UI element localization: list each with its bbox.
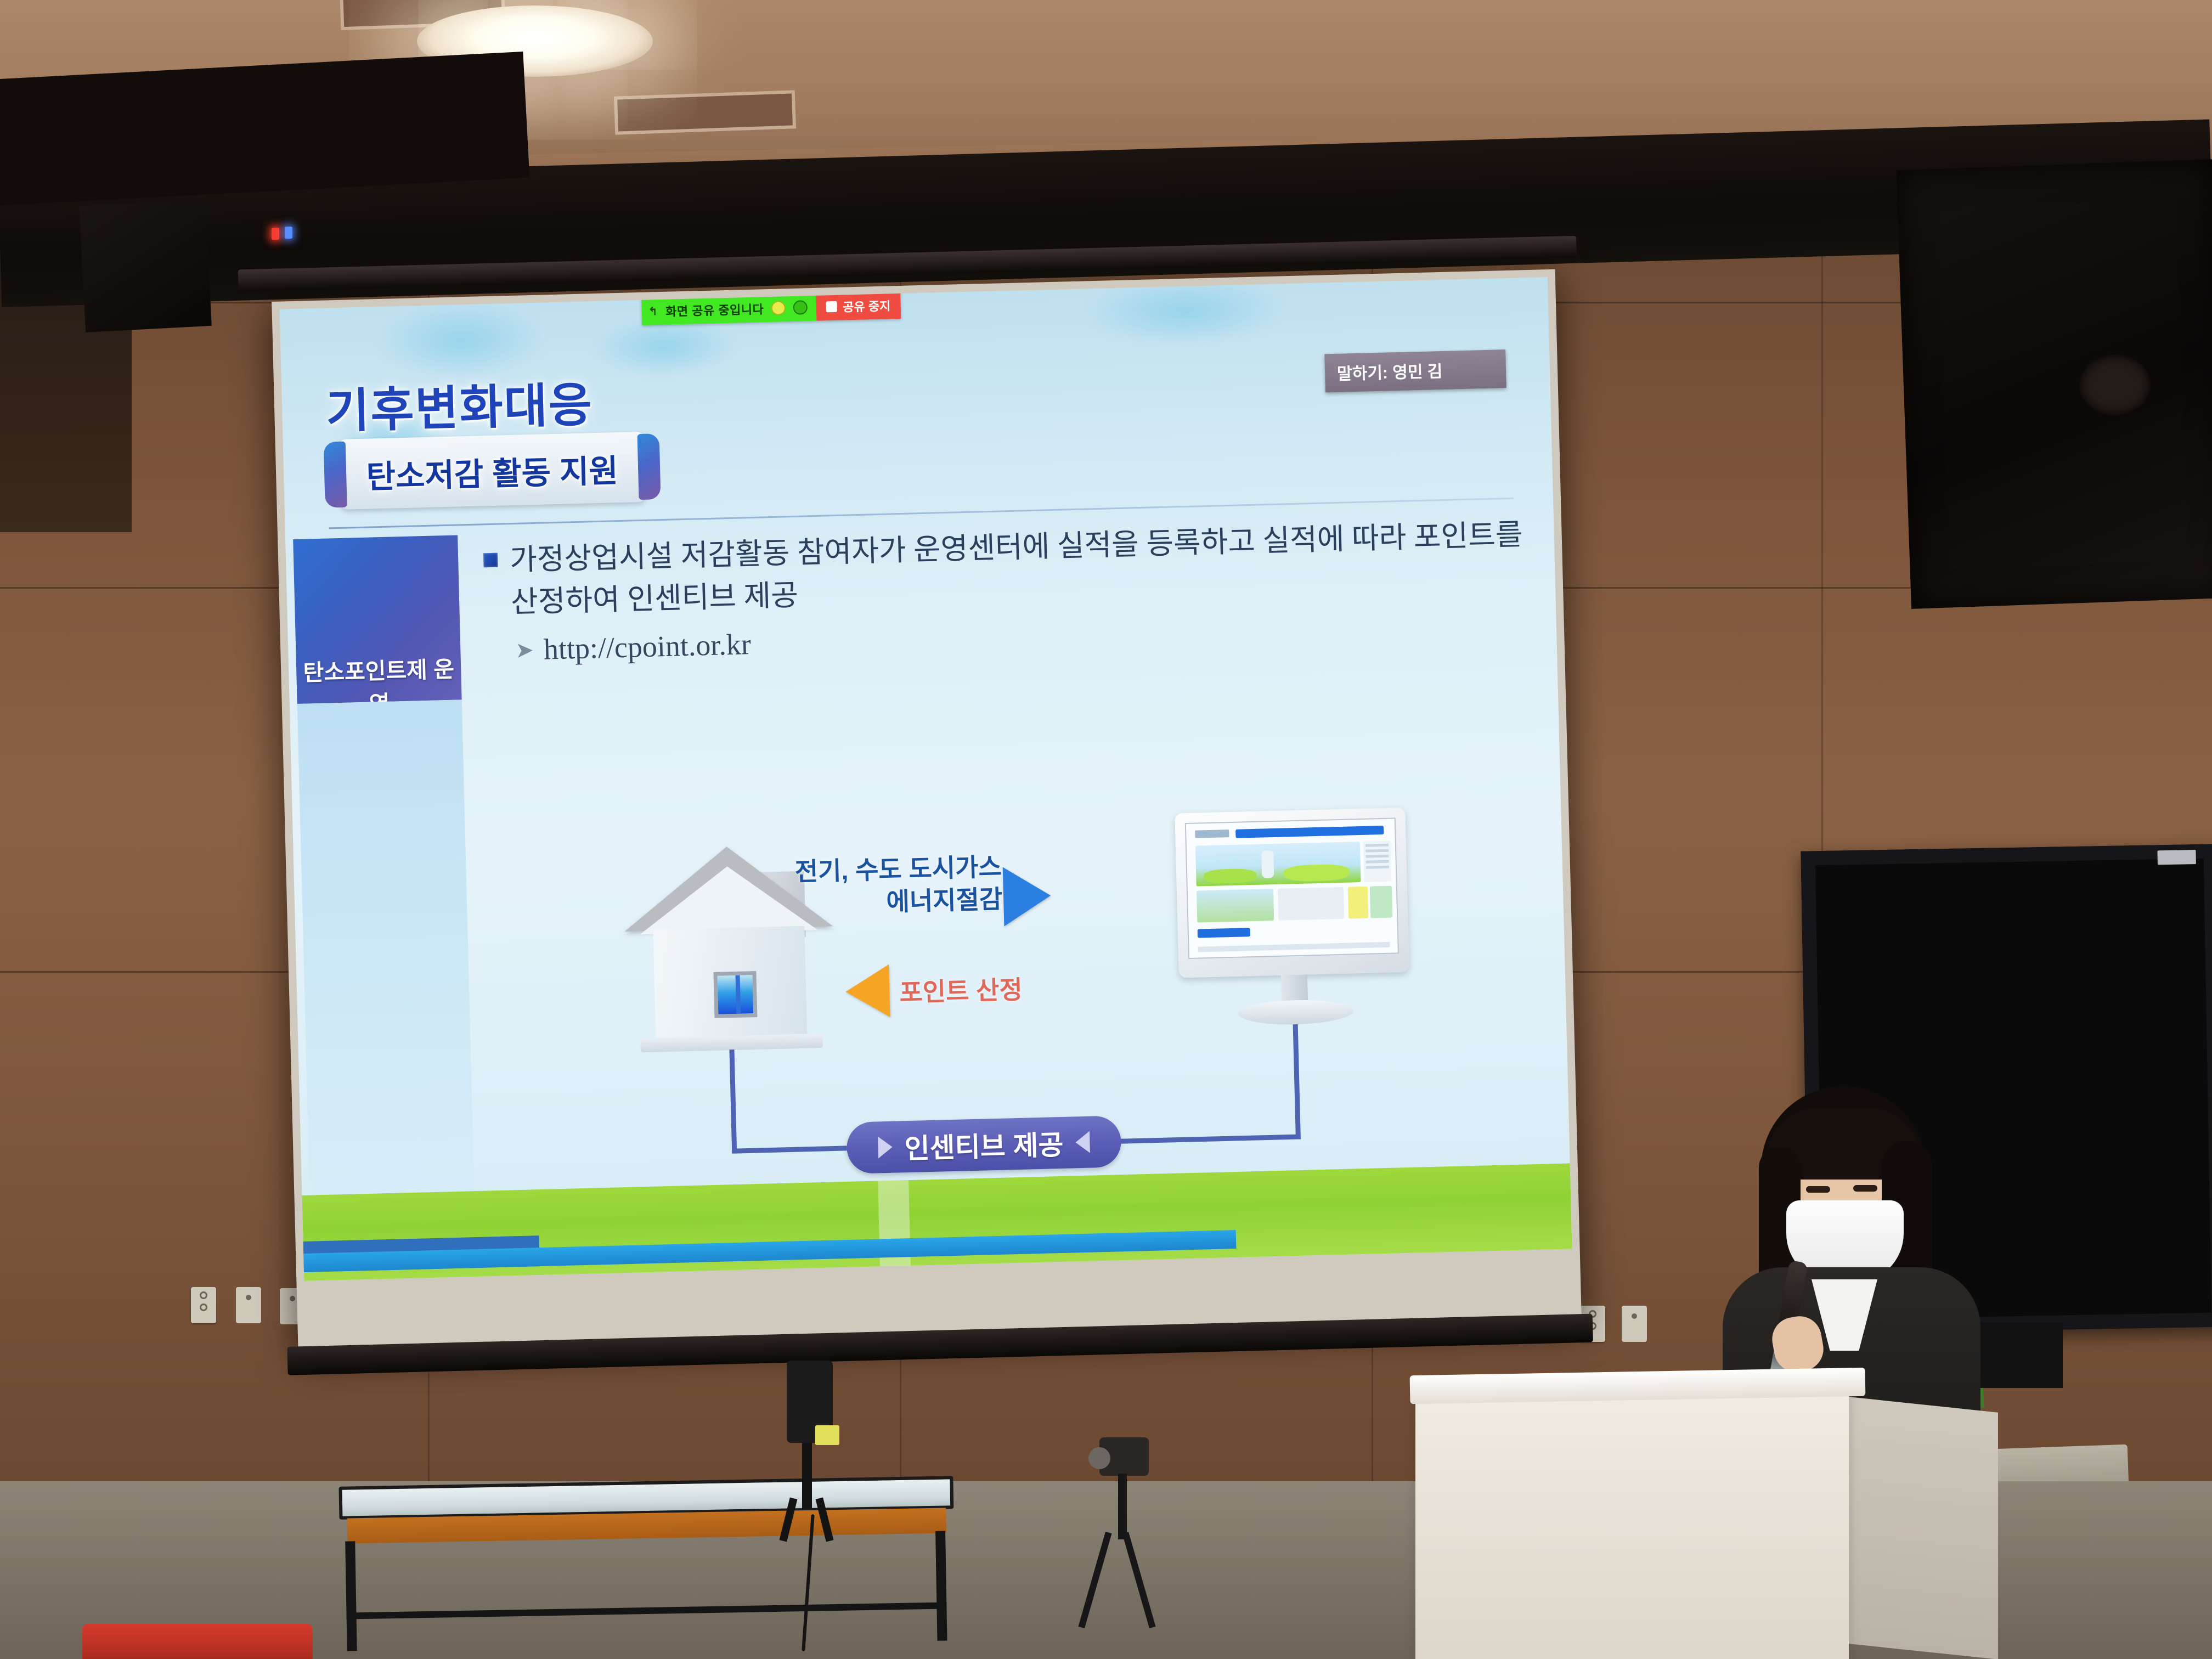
side-panel: 탄소포인트제 운영 bbox=[293, 535, 476, 1268]
camera-on-tripod bbox=[768, 1361, 845, 1525]
wall-switch bbox=[236, 1287, 261, 1323]
second-camera-tripod bbox=[1075, 1437, 1163, 1635]
wall-switch bbox=[1622, 1306, 1647, 1342]
ceiling-vent bbox=[614, 90, 796, 134]
slide-title: 기후변화대응 bbox=[325, 366, 594, 441]
slide-content: ↰ 화면 공유 중입니다 공유 중지 기후변화대응 말하기: 영민 김 bbox=[280, 277, 1572, 1281]
url-text: http://cpoint.or.kr bbox=[543, 627, 751, 667]
flow-label-points: 포인트 산정 bbox=[899, 970, 1023, 1009]
subtitle-banner: 탄소저감 활동 지원 bbox=[321, 431, 663, 511]
projector-led-red-icon bbox=[272, 228, 279, 240]
scene-photo: ↰ 화면 공유 중입니다 공유 중지 기후변화대응 말하기: 영민 김 bbox=[0, 0, 2212, 1659]
bullet-item: 가정상업시설 저감활동 참여자가 운영센터에 실적을 등록하고 실적에 따라 포… bbox=[483, 513, 1527, 624]
ceiling-speaker bbox=[1896, 159, 2212, 609]
bullet-text: 가정상업시설 저감활동 참여자가 운영센터에 실적을 등록하고 실적에 따라 포… bbox=[509, 513, 1527, 623]
ceiling-speaker-left bbox=[79, 200, 212, 332]
projector-led-blue-icon bbox=[285, 227, 292, 239]
triangle-left-icon bbox=[1075, 1131, 1090, 1154]
projection-screen: ↰ 화면 공유 중입니다 공유 중지 기후변화대응 말하기: 영민 김 bbox=[272, 269, 1583, 1393]
screen-border: ↰ 화면 공유 중입니다 공유 중지 기후변화대응 말하기: 영민 김 bbox=[272, 269, 1582, 1350]
share-status: ↰ 화면 공유 중입니다 bbox=[641, 294, 817, 325]
arrow-left-icon bbox=[845, 964, 890, 1018]
equipment-table bbox=[338, 1476, 956, 1651]
red-seat bbox=[82, 1624, 313, 1659]
active-speaker-tag: 말하기: 영민 김 bbox=[1324, 349, 1506, 392]
subtitle-banner-label: 탄소저감 활동 지원 bbox=[321, 431, 663, 511]
arrow-right-icon: ➤ bbox=[515, 637, 534, 663]
monitor-icon bbox=[1175, 808, 1410, 1032]
podium-side bbox=[1844, 1396, 1998, 1659]
screen-share-bar[interactable]: ↰ 화면 공유 중입니다 공유 중지 bbox=[641, 291, 901, 325]
incentive-banner: 인센티브 제공 bbox=[846, 1115, 1121, 1174]
stop-share-label: 공유 중지 bbox=[843, 296, 891, 315]
annotate-icon[interactable] bbox=[793, 300, 808, 315]
pause-share-icon[interactable] bbox=[771, 301, 786, 315]
flow-label-energy: 전기, 수도 도시가스 에너지절감 bbox=[787, 851, 1003, 921]
stop-share-button[interactable]: 공유 중지 bbox=[816, 291, 901, 321]
bullet-list: 가정상업시설 저감활동 참여자가 운영센터에 실적을 등록하고 실적에 따라 포… bbox=[483, 513, 1528, 668]
arrow-right-icon bbox=[1003, 866, 1052, 926]
monitor-label bbox=[2157, 850, 2196, 865]
triangle-right-icon bbox=[878, 1136, 893, 1159]
bullet-square-icon bbox=[483, 553, 498, 568]
stop-square-icon bbox=[826, 301, 837, 312]
share-status-label: 화면 공유 중입니다 bbox=[665, 300, 764, 320]
wall-outlet bbox=[191, 1287, 216, 1323]
incentive-label: 인센티브 제공 bbox=[904, 1123, 1064, 1166]
podium: 대 구 대 학 교 DAEGU · 1956 bbox=[1415, 1393, 1849, 1659]
share-arrow-icon: ↰ bbox=[648, 304, 658, 318]
